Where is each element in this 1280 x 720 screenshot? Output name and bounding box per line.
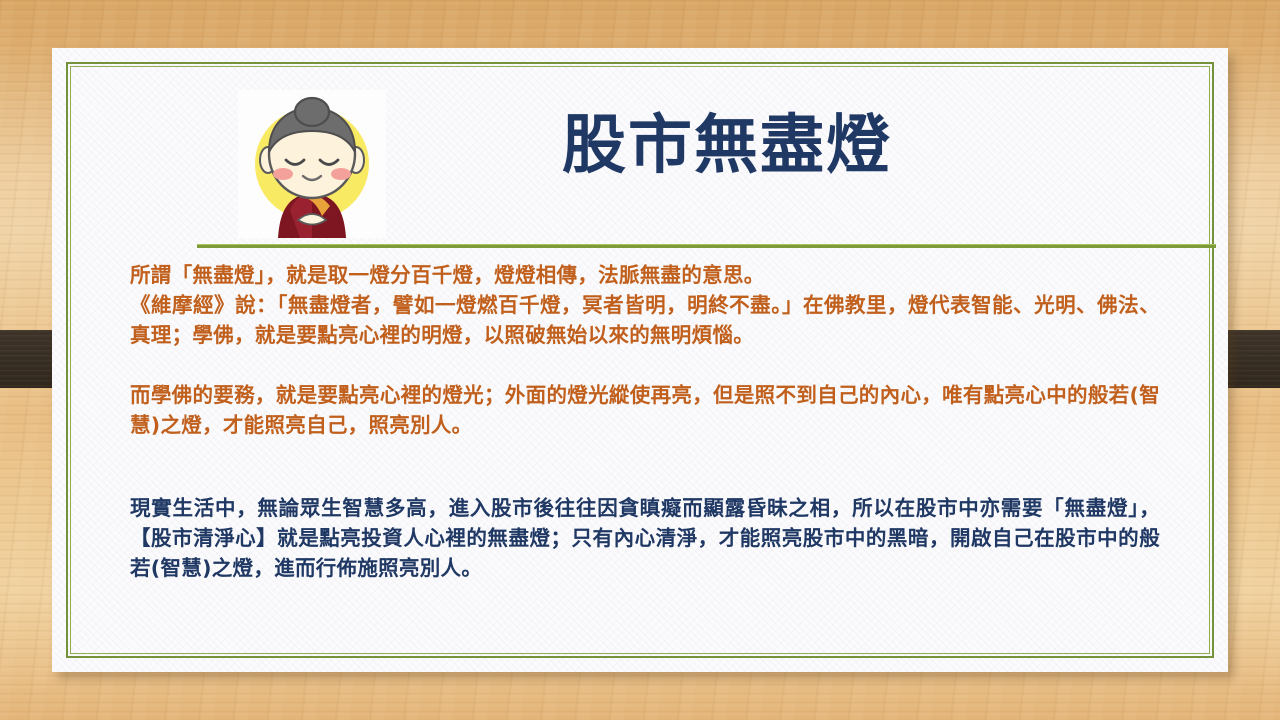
paragraph-spacer-2	[130, 440, 1160, 493]
paragraph-3: 現實生活中，無論眾生智慧多高，進入股市後往往因貪瞋癡而顯露昏昧之相，所以在股市中…	[130, 493, 1160, 583]
slide-body: 所謂「無盡燈」，就是取一燈分百千燈，燈燈相傳，法脈無盡的意思。 《維摩經》說：「…	[130, 260, 1160, 583]
page-title: 股市無盡燈	[492, 110, 962, 184]
slide-card: 股市無盡燈 所謂「無盡燈」，就是取一燈分百千燈，燈燈相傳，法脈無盡的意思。 《維…	[52, 48, 1228, 672]
paragraph-1: 所謂「無盡燈」，就是取一燈分百千燈，燈燈相傳，法脈無盡的意思。 《維摩經》說：「…	[130, 260, 1160, 350]
paragraph-spacer-1	[130, 350, 1160, 380]
paragraph-2: 而學佛的要務，就是要點亮心裡的燈光；外面的燈光縱使再亮，但是照不到自己的內心，唯…	[130, 380, 1160, 440]
meditating-buddha-avatar-icon	[238, 90, 386, 238]
slide-header: 股市無盡燈	[52, 48, 1228, 248]
title-divider-rule	[197, 244, 1216, 248]
presentation-slide: 股市無盡燈 所謂「無盡燈」，就是取一燈分百千燈，燈燈相傳，法脈無盡的意思。 《維…	[0, 0, 1280, 720]
